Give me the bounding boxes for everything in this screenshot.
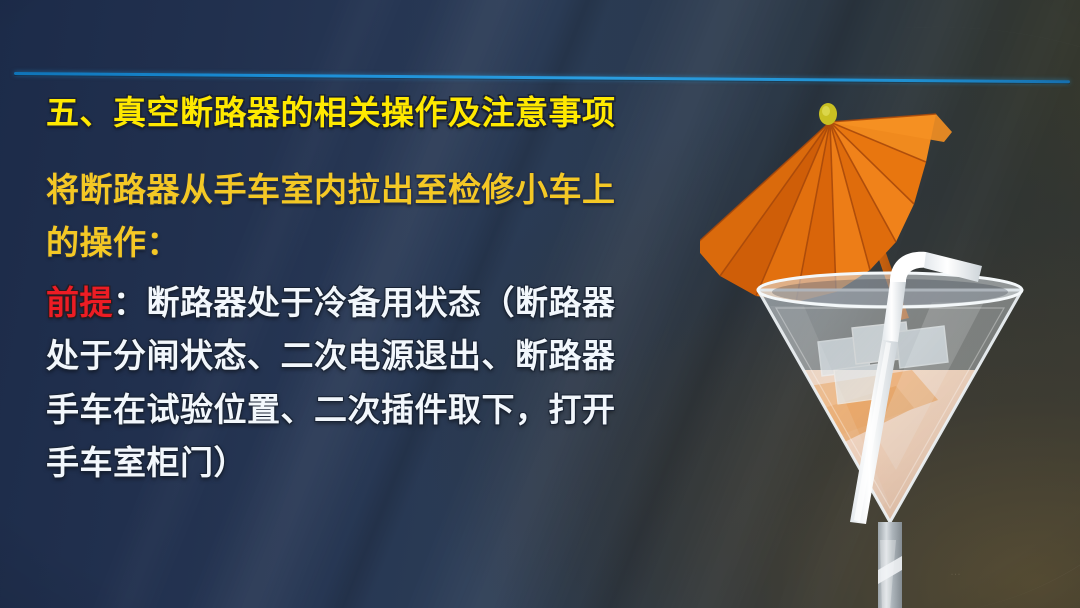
body-line-2: 处于分闸状态、二次电源退出、断路器 [46,329,706,382]
watermark-text: … [950,566,962,578]
premise-line: 前提：断路器处于冷备用状态（断路器 [46,276,706,329]
slide-canvas: 五、真空断路器的相关操作及注意事项 将断路器从手车室内拉出至检修小车上 的操作：… [0,0,1080,608]
subtitle-block: 将断路器从手车室内拉出至检修小车上 的操作： [46,163,706,270]
body-line-1: 断路器处于冷备用状态（断路器 [147,284,616,321]
subtitle-line-1: 将断路器从手车室内拉出至检修小车上 [46,163,706,216]
slide-text-column: 五、真空断路器的相关操作及注意事项 将断路器从手车室内拉出至检修小车上 的操作：… [46,96,706,490]
premise-label: 前提 [46,284,113,321]
body-line-3: 手车在试验位置、二次插件取下，打开 [46,383,706,436]
subtitle-line-2: 的操作： [46,216,706,269]
body-line-4: 手车室柜门） [46,436,706,489]
cocktail-glass-illustration [700,70,1080,608]
glass-stem-and-base [774,522,1000,608]
page-title: 五、真空断路器的相关操作及注意事项 [46,96,706,129]
premise-colon: ： [113,284,147,321]
